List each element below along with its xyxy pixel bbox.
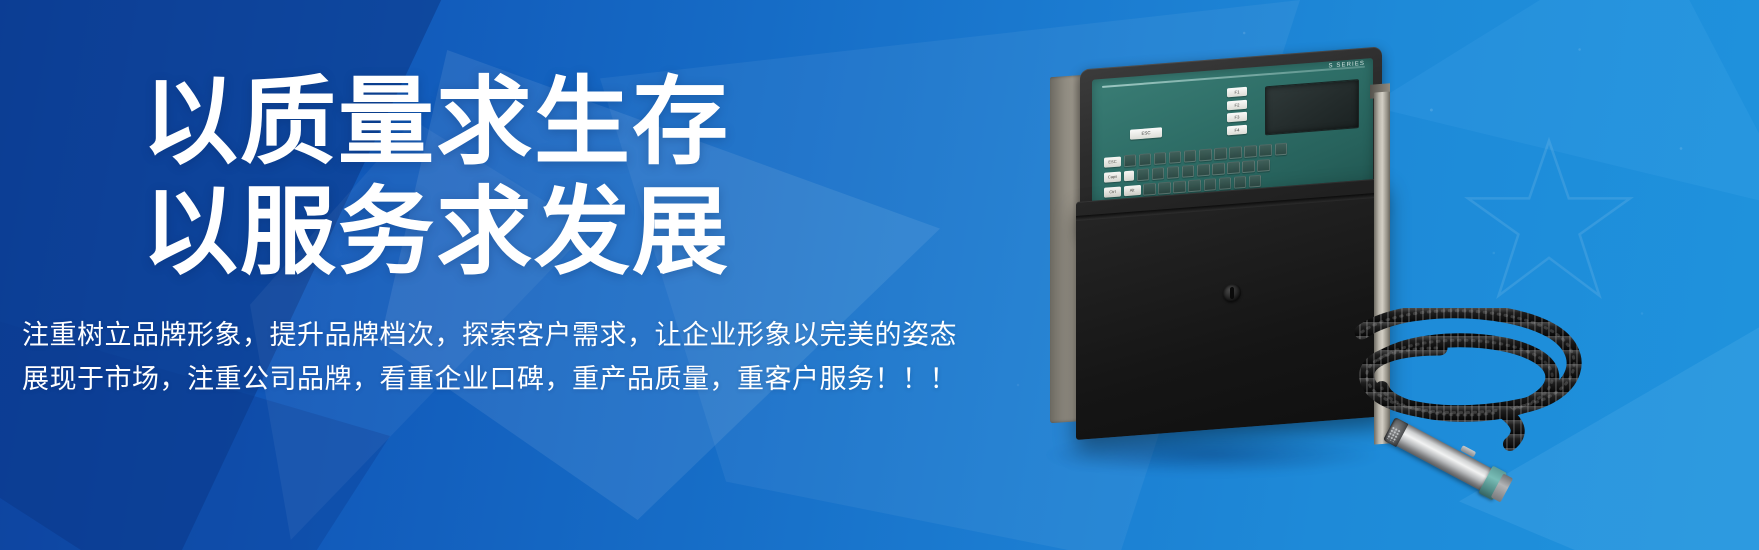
product-image-inkjet-printer: S SERIES F1 F2 F3 F4 ESC ESC <box>1018 40 1638 510</box>
key-p[interactable] <box>1257 159 1270 172</box>
printer-cabinet <box>1076 178 1388 440</box>
key-7[interactable] <box>1214 147 1227 160</box>
key-g[interactable] <box>1204 178 1217 191</box>
product-shadow <box>1048 435 1378 475</box>
key-e[interactable] <box>1152 167 1165 180</box>
key-q[interactable] <box>1124 170 1135 181</box>
key-9[interactable] <box>1244 145 1257 158</box>
headline-line-1: 以质量求生存 <box>142 74 1022 172</box>
key-8[interactable] <box>1229 146 1242 159</box>
headline-line-2: 以服务求发展 <box>142 184 1022 282</box>
key-caps[interactable]: Caps <box>1104 171 1121 182</box>
key-2[interactable] <box>1139 153 1152 166</box>
promo-banner: 以质量求生存 以服务求发展 注重树立品牌形象，提升品牌档次，探索客户需求，让企业… <box>0 0 1759 550</box>
subtitle-line-1: 注重树立品牌形象，提升品牌档次，探索客户需求，让企业形象以完美的姿态 <box>22 314 1022 358</box>
key-f[interactable] <box>1188 179 1201 192</box>
print-head-nozzle-holes <box>1386 425 1401 442</box>
key-t[interactable] <box>1182 165 1195 178</box>
key-5[interactable] <box>1184 150 1197 163</box>
key-minus[interactable] <box>1275 143 1288 156</box>
key-f3[interactable]: F3 <box>1227 112 1247 123</box>
key-w[interactable] <box>1137 168 1150 181</box>
subtitle-line-2: 展现于市场，注重公司品牌，看重企业口碑，重产品质量，重客户服务！！！ <box>22 358 1022 402</box>
cabinet-door-latch[interactable] <box>1223 283 1241 302</box>
key-3[interactable] <box>1154 152 1167 165</box>
banner-copy: 以质量求生存 以服务求发展 注重树立品牌形象，提升品牌档次，探索客户需求，让企业… <box>22 74 1022 401</box>
key-esc-large[interactable]: ESC <box>1130 127 1162 139</box>
function-key-column[interactable]: F1 F2 F3 F4 <box>1227 87 1247 139</box>
key-0[interactable] <box>1259 144 1272 157</box>
key-i[interactable] <box>1227 161 1240 174</box>
key-d[interactable] <box>1173 180 1186 193</box>
key-ctrl[interactable]: Ctrl <box>1104 186 1121 197</box>
printer-conduit-cable <box>1354 308 1634 478</box>
key-k[interactable] <box>1249 174 1262 187</box>
key-r[interactable] <box>1167 166 1180 179</box>
key-alt[interactable]: Alt <box>1124 185 1141 196</box>
key-f2[interactable]: F2 <box>1227 99 1247 110</box>
key-j[interactable] <box>1234 175 1247 188</box>
key-a[interactable] <box>1143 182 1156 195</box>
key-o[interactable] <box>1242 160 1255 173</box>
key-s[interactable] <box>1158 181 1171 194</box>
key-1[interactable] <box>1124 154 1137 167</box>
key-4[interactable] <box>1169 151 1182 164</box>
key-h[interactable] <box>1219 177 1232 190</box>
banner-subtitle: 注重树立品牌形象，提升品牌档次，探索客户需求，让企业形象以完美的姿态 展现于市场… <box>22 314 1022 401</box>
key-y[interactable] <box>1197 163 1210 176</box>
key-esc[interactable]: ESC <box>1104 156 1121 167</box>
key-u[interactable] <box>1212 162 1225 175</box>
key-f1[interactable]: F1 <box>1227 87 1247 98</box>
key-f4[interactable]: F4 <box>1227 124 1247 135</box>
printer-lcd-screen <box>1265 79 1359 135</box>
key-6[interactable] <box>1199 148 1212 161</box>
